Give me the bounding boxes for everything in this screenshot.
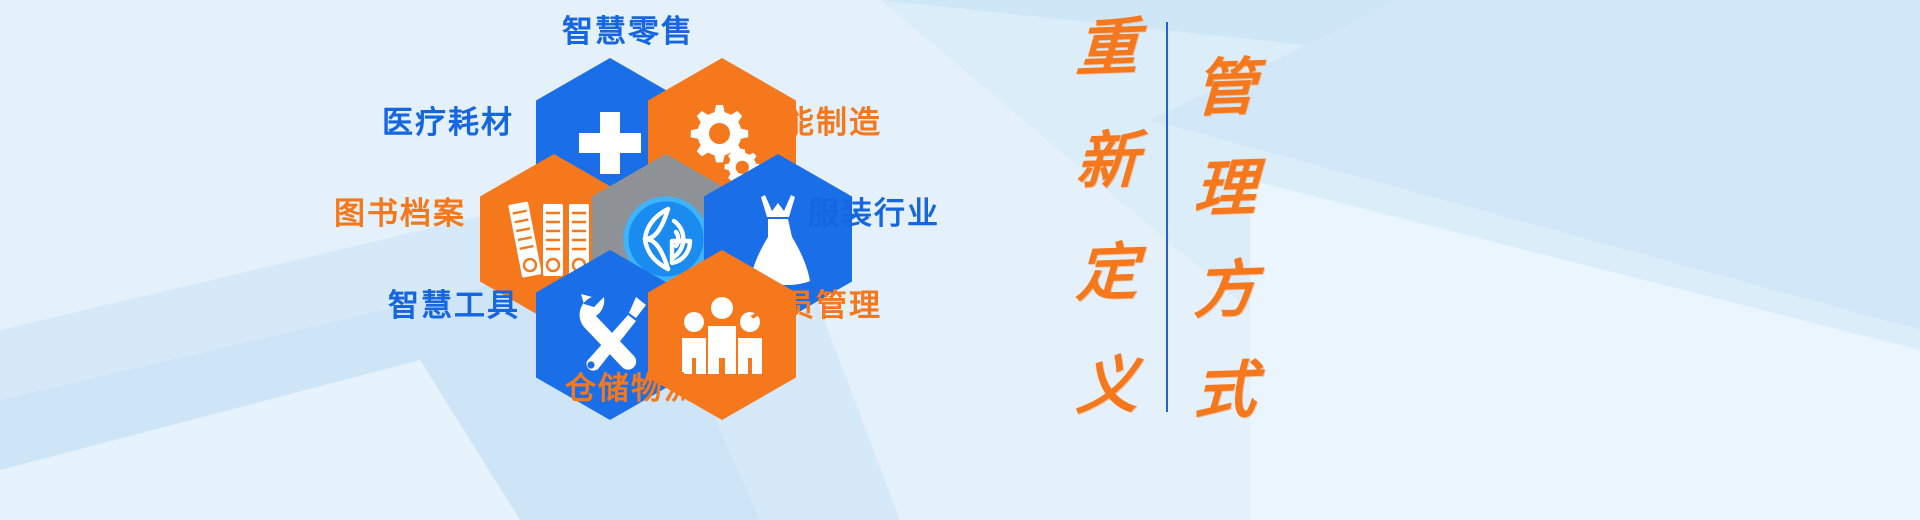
label-smart-manufacturing: 智能制造 <box>750 107 882 138</box>
slogan-char-1: 重 <box>1075 17 1139 81</box>
slogan-divider <box>1166 22 1168 412</box>
background-graphic <box>0 0 1920 520</box>
slogan-column-right: 管 理 方 式 <box>1180 58 1270 423</box>
slogan-char-4: 义 <box>1075 355 1139 419</box>
slogan-char-6: 理 <box>1193 158 1257 222</box>
slogan-char-5: 管 <box>1193 57 1257 121</box>
slogan-char-2: 新 <box>1075 130 1139 194</box>
label-smart-retail: 智慧零售 <box>562 16 694 47</box>
slogan-column-left: 重 新 定 义 <box>1062 18 1152 418</box>
label-medical-consumables: 医疗耗材 <box>382 107 514 138</box>
label-apparel-industry: 服装行业 <box>808 198 940 229</box>
label-books-archives: 图书档案 <box>334 198 466 229</box>
label-warehouse-logistics: 仓储物流 <box>565 373 697 404</box>
label-personnel-management: 人员管理 <box>750 290 882 321</box>
slogan-char-8: 式 <box>1193 360 1257 424</box>
promo-banner: 智慧零售 医疗耗材 智能制造 图书档案 服装行业 智慧工具 人员管理 仓储物流 … <box>0 0 1920 520</box>
label-smart-tools: 智慧工具 <box>388 290 520 321</box>
slogan-char-3: 定 <box>1075 242 1139 306</box>
slogan-char-7: 方 <box>1193 259 1257 323</box>
